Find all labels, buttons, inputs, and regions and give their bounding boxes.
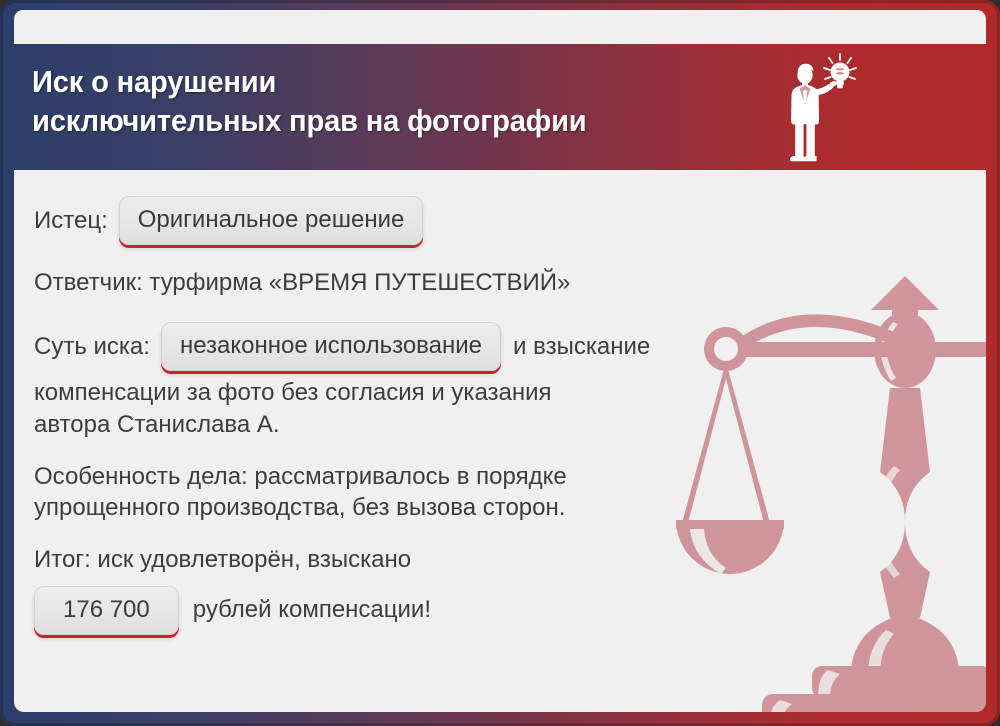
case-feature-text: Особенность дела: рассматривалось в поря… — [34, 461, 774, 524]
page-title: Иск о нарушении исключительных прав на ф… — [32, 62, 690, 140]
compensation-suffix-text: рублей компенсации! — [193, 594, 431, 625]
claim-label: Суть иска: — [34, 331, 150, 362]
plaintiff-chip[interactable]: Оригинальное решение — [119, 196, 424, 245]
top-strip — [14, 10, 986, 44]
defendant-text: Ответчик: турфирма «ВРЕМЯ ПУТЕШЕСТВИЙ» — [34, 269, 570, 296]
case-summary: Истец: Оригинальное решение Ответчик: ту… — [34, 196, 774, 635]
content-panel: Истец: Оригинальное решение Ответчик: ту… — [14, 170, 986, 712]
claim-continuation-text: компенсации за фото без согласия и указа… — [34, 377, 774, 440]
header-band: Иск о нарушении исключительных прав на ф… — [0, 44, 1000, 170]
amount-row: 176 700 рублей компенсации! — [34, 586, 774, 635]
claim-after-chip-text: и взыскание — [513, 331, 650, 362]
plaintiff-label: Истец: — [34, 205, 108, 236]
businessman-with-lightbulb-icon — [772, 48, 868, 166]
claim-chip[interactable]: незаконное использование — [161, 322, 501, 371]
result-text: Итог: иск удовлетворён, взыскано — [34, 544, 774, 576]
plaintiff-row: Истец: Оригинальное решение — [34, 196, 774, 245]
compensation-amount-chip[interactable]: 176 700 — [34, 586, 179, 635]
claim-row: Суть иска: незаконное использование и вз… — [34, 322, 774, 371]
infographic-card: Иск о нарушении исключительных прав на ф… — [0, 0, 1000, 726]
defendant-row: Ответчик: турфирма «ВРЕМЯ ПУТЕШЕСТВИЙ» — [34, 267, 774, 298]
